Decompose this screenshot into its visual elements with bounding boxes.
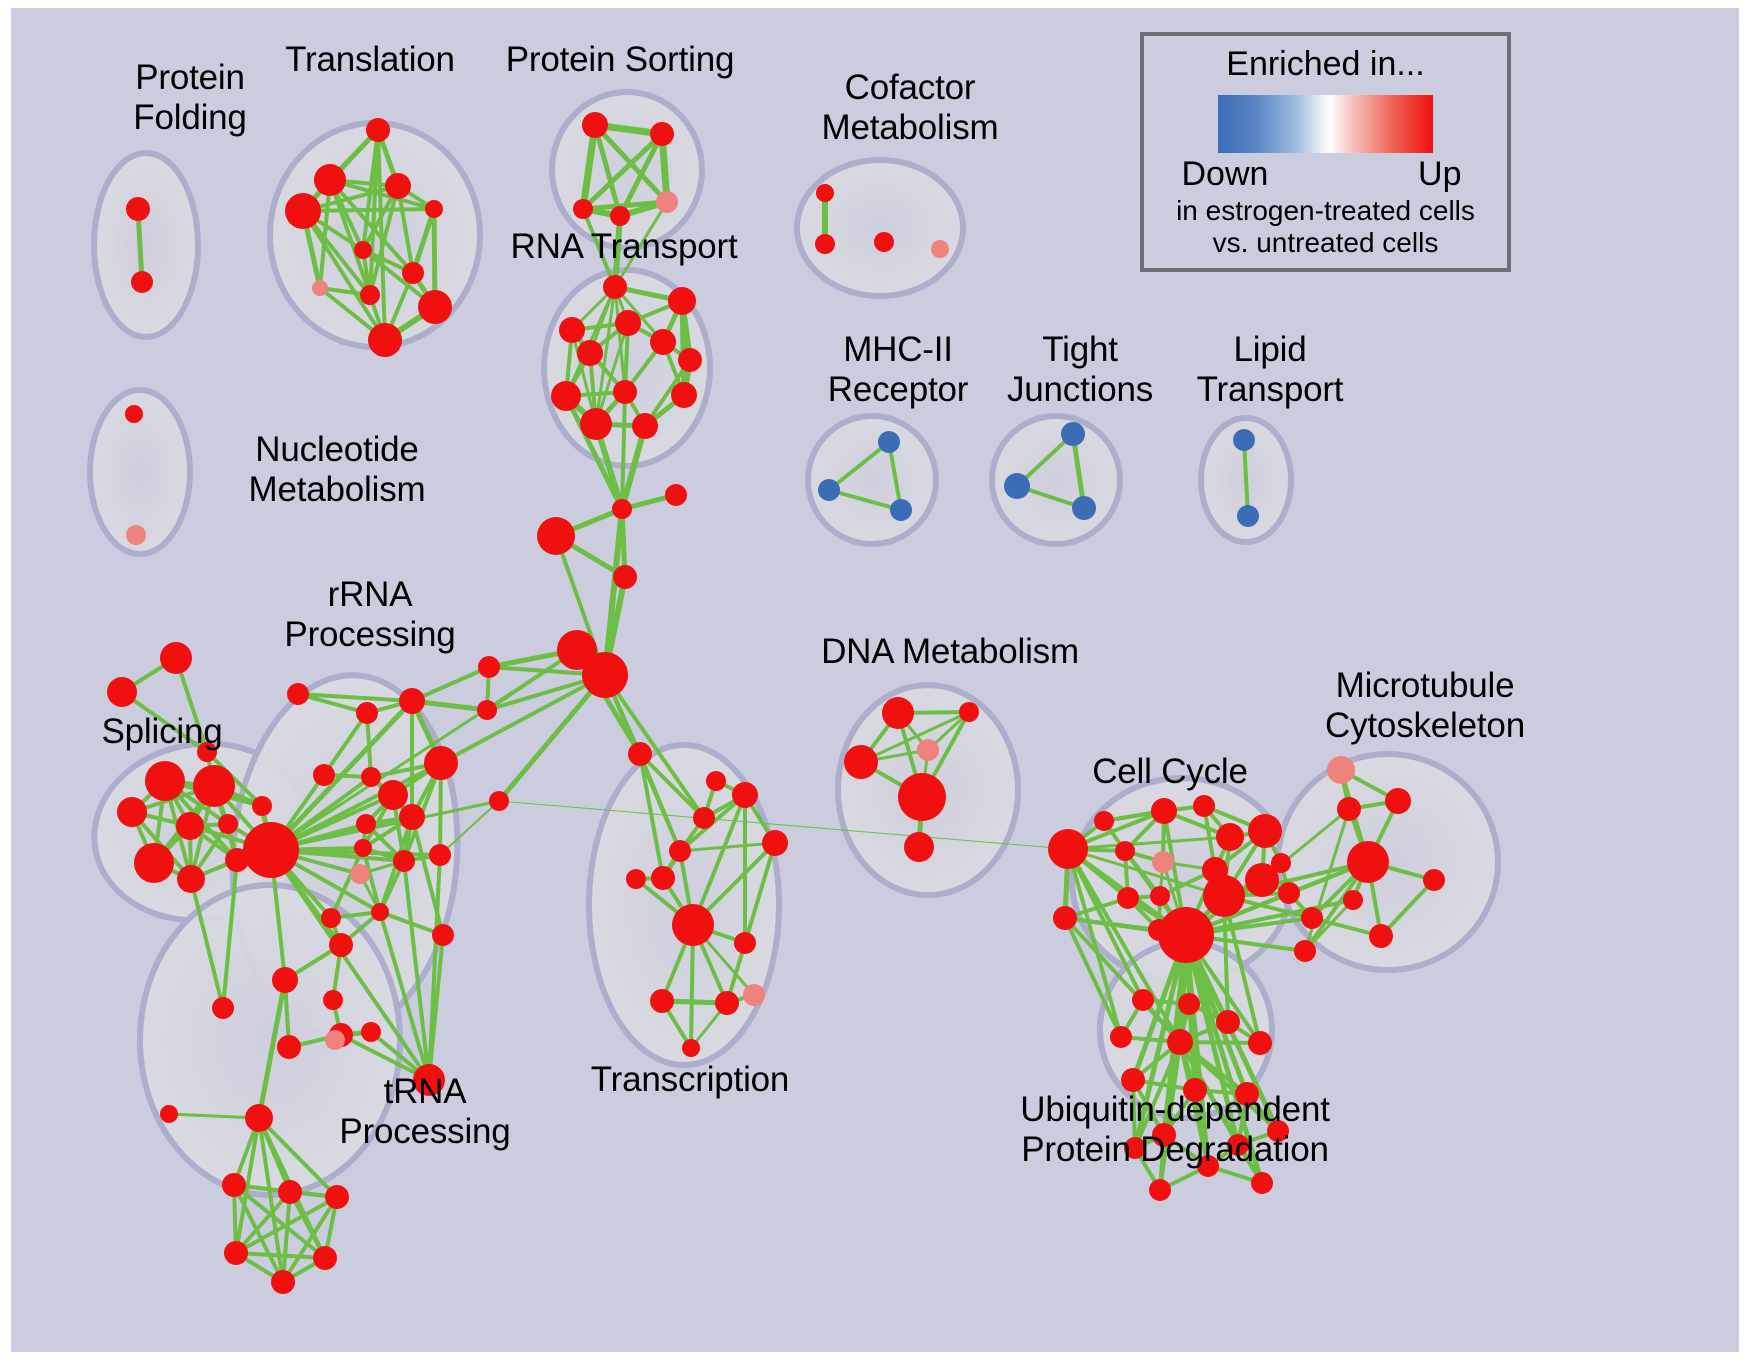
network-node[interactable] [134,843,174,883]
network-node[interactable] [1343,890,1363,910]
cluster-label-microtubule: Microtubule Cytoskeleton [1255,666,1595,745]
network-node[interactable] [582,112,608,138]
network-node[interactable] [651,866,675,890]
network-node[interactable] [1237,505,1259,527]
network-node[interactable] [313,1246,337,1270]
legend-down-label: Down [1182,155,1269,194]
cluster-hull-cofactor-metabolism [797,160,963,296]
network-node[interactable] [378,780,408,810]
network-node[interactable] [399,804,425,830]
network-node[interactable] [350,864,370,884]
cluster-label-trna-processing: tRNA Processing [300,1072,550,1151]
network-node[interactable] [1110,1026,1132,1048]
network-node[interactable] [650,989,674,1013]
network-node[interactable] [277,1035,301,1059]
network-node[interactable] [1148,919,1170,941]
network-node[interactable] [844,745,878,779]
cluster-label-ubiquitin: Ubiquitin-dependent Protein Degradation [975,1090,1375,1169]
network-node[interactable] [177,865,205,893]
network-node[interactable] [890,499,912,521]
network-node[interactable] [1271,853,1291,873]
network-node[interactable] [287,683,309,705]
network-node[interactable] [1149,1179,1171,1201]
network-node[interactable] [732,782,758,808]
network-node[interactable] [656,191,678,213]
network-node[interactable] [1048,829,1088,869]
network-node[interactable] [117,797,147,827]
network-node[interactable] [669,840,691,862]
network-node[interactable] [626,869,646,889]
network-node[interactable] [176,812,204,840]
network-node[interactable] [577,340,603,366]
network-node[interactable] [734,932,756,954]
network-node[interactable] [252,796,272,816]
network-node[interactable] [145,761,185,801]
network-node[interactable] [393,850,415,872]
cluster-label-rrna-processing: rRNA Processing [245,575,495,654]
network-node[interactable] [706,771,726,791]
network-node[interactable] [1152,851,1174,873]
network-node[interactable] [762,830,788,856]
network-node[interactable] [212,997,234,1019]
network-node[interactable] [1004,473,1030,499]
network-node[interactable] [1233,429,1255,451]
network-node[interactable] [815,234,835,254]
network-node[interactable] [1248,1031,1272,1055]
network-node[interactable] [329,933,353,957]
network-node[interactable] [1337,797,1361,821]
network-node[interactable] [898,773,946,821]
network-node[interactable] [615,310,641,336]
network-node[interactable] [224,1241,248,1265]
network-node[interactable] [321,908,341,928]
network-node[interactable] [573,199,593,219]
legend-title: Enriched in... [1144,45,1507,84]
network-node[interactable] [325,1030,345,1050]
network-node[interactable] [385,173,411,199]
network-node[interactable] [1061,422,1085,446]
network-node[interactable] [874,232,894,252]
network-node[interactable] [632,413,658,439]
edge [236,1253,325,1258]
network-node[interactable] [613,565,637,589]
legend-subtitle-line2: vs. untreated cells [1144,227,1507,259]
network-node[interactable] [477,700,497,720]
network-node[interactable] [1193,795,1215,817]
network-node[interactable] [1347,841,1389,883]
network-node[interactable] [354,839,372,857]
network-node[interactable] [425,200,443,218]
network-node[interactable] [218,814,238,834]
network-node[interactable] [432,924,454,946]
legend-up-label: Up [1418,155,1461,194]
network-node[interactable] [1203,875,1245,917]
network-node[interactable] [285,193,321,229]
network-node[interactable] [1053,906,1077,930]
network-node[interactable] [715,991,739,1015]
network-node[interactable] [361,1022,381,1042]
network-node[interactable] [1151,798,1177,824]
network-node[interactable] [650,329,676,355]
network-node[interactable] [671,382,697,408]
network-node[interactable] [1294,940,1316,962]
network-node[interactable] [1327,756,1355,784]
network-node[interactable] [1117,887,1139,909]
network-node[interactable] [429,844,451,866]
network-node[interactable] [125,405,143,423]
network-node[interactable] [489,791,509,811]
cluster-label-nucleotide-metabolism: Nucleotide Metabolism [192,430,482,509]
legend-endpoint-labels: Down Up [1176,155,1476,195]
network-node[interactable] [650,122,674,146]
network-node[interactable] [1251,1172,1273,1194]
legend-box: Enriched in... Down Up in estrogen-treat… [1140,32,1511,272]
network-node[interactable] [668,287,696,315]
network-node[interactable] [818,479,840,501]
network-node[interactable] [107,677,137,707]
network-node[interactable] [313,764,335,786]
legend-subtitle: in estrogen-treated cells vs. untreated … [1144,195,1507,259]
network-node[interactable] [1115,841,1135,861]
network-node[interactable] [613,380,637,404]
network-node[interactable] [222,1173,246,1197]
network-node[interactable] [271,1270,295,1294]
cluster-label-dna-metabolism: DNA Metabolism [790,632,1110,672]
network-node[interactable] [559,317,585,343]
network-node[interactable] [1278,882,1300,904]
network-node[interactable] [931,240,949,258]
network-node[interactable] [1072,496,1096,520]
network-node[interactable] [368,323,402,357]
figure-canvas: Protein FoldingTranslationProtein Sortin… [0,0,1750,1360]
network-node[interactable] [959,702,979,722]
network-node[interactable] [1369,924,1393,948]
network-node[interactable] [1178,993,1200,1015]
cluster-label-lipid-transport: Lipid Transport [1150,330,1390,409]
network-node[interactable] [126,197,150,221]
cluster-label-cofactor-metabolism: Cofactor Metabolism [770,68,1050,147]
network-node[interactable] [693,807,715,829]
network-node[interactable] [243,822,299,878]
network-node[interactable] [1385,788,1411,814]
network-node[interactable] [424,746,458,780]
network-node[interactable] [551,381,581,411]
network-node[interactable] [682,1039,700,1057]
network-node[interactable] [904,832,934,862]
network-node[interactable] [816,184,834,202]
cluster-label-protein-sorting: Protein Sorting [430,40,810,80]
network-node[interactable] [882,697,914,729]
network-node[interactable] [399,688,425,714]
cluster-label-rna-transport: RNA Transport [434,227,814,267]
network-node[interactable] [126,525,146,545]
network-node[interactable] [272,967,298,993]
network-node[interactable] [323,990,343,1010]
edge [283,1192,290,1282]
network-node[interactable] [478,656,500,678]
network-node[interactable] [402,262,424,284]
network-node[interactable] [1150,886,1170,906]
network-node[interactable] [160,1105,178,1123]
network-node[interactable] [1167,1029,1193,1055]
network-node[interactable] [312,280,328,296]
network-node[interactable] [278,1180,302,1204]
edge [303,209,434,211]
cluster-label-splicing: Splicing [52,712,272,752]
network-node[interactable] [1216,1010,1240,1034]
network-node[interactable] [1094,811,1114,831]
network-node[interactable] [418,290,452,324]
network-node[interactable] [917,739,939,761]
network-node[interactable] [612,499,632,519]
network-node[interactable] [610,206,630,226]
network-node[interactable] [743,984,765,1006]
network-node[interactable] [580,408,612,440]
network-node[interactable] [371,903,389,921]
network-node[interactable] [672,904,714,946]
network-node[interactable] [878,431,900,453]
network-node[interactable] [361,767,381,787]
network-node[interactable] [1216,823,1244,851]
cluster-hull-protein-folding [94,153,198,337]
network-node[interactable] [366,118,390,142]
network-node[interactable] [354,241,372,259]
network-node[interactable] [665,484,687,506]
cluster-label-transcription: Transcription [545,1060,835,1100]
network-node[interactable] [325,1185,349,1209]
legend-subtitle-line1: in estrogen-treated cells [1144,195,1507,227]
network-node[interactable] [1248,814,1282,848]
network-node[interactable] [193,765,235,807]
network-node[interactable] [582,652,628,698]
network-node[interactable] [1132,989,1154,1011]
network-node[interactable] [628,742,652,766]
network-node[interactable] [1301,907,1323,929]
network-node[interactable] [1423,869,1445,891]
network-node[interactable] [678,348,702,372]
network-node[interactable] [1121,1068,1145,1092]
network-node[interactable] [160,642,192,674]
network-node[interactable] [131,271,153,293]
network-node[interactable] [360,285,380,305]
network-node[interactable] [245,1104,273,1132]
network-node[interactable] [537,517,575,555]
network-node[interactable] [356,702,378,724]
network-node[interactable] [603,275,627,299]
network-node[interactable] [314,164,346,196]
color-scale-bar [1218,95,1433,153]
cluster-label-cell-cycle: Cell Cycle [1040,752,1300,792]
edge [499,675,605,801]
network-node[interactable] [356,814,376,834]
